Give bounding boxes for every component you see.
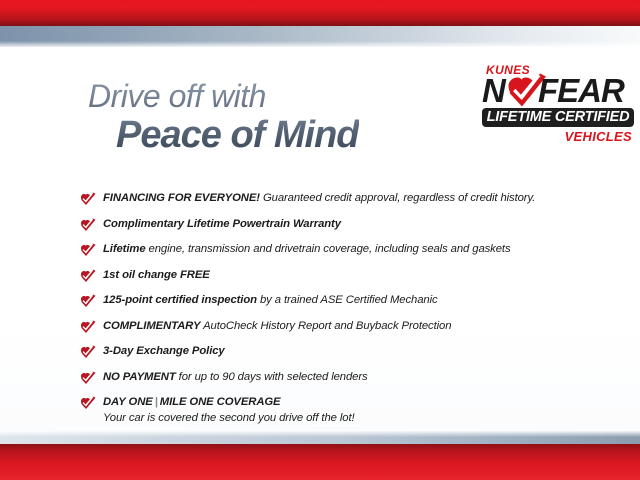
list-item-bold: 1st oil change FREE bbox=[103, 269, 210, 281]
list-item: Complimentary Lifetime Powertrain Warran… bbox=[79, 217, 579, 233]
bottom-silver-bar bbox=[0, 431, 640, 444]
heart-check-bullet-icon bbox=[79, 269, 96, 284]
list-item: FINANCING FOR EVERYONE! Guaranteed credi… bbox=[79, 191, 579, 207]
benefits-list: FINANCING FOR EVERYONE! Guaranteed credi… bbox=[79, 191, 579, 435]
heart-check-bullet-icon bbox=[79, 345, 96, 360]
list-item-text: Complimentary Lifetime Powertrain Warran… bbox=[103, 217, 341, 231]
list-item-text: FINANCING FOR EVERYONE! Guaranteed credi… bbox=[103, 191, 535, 205]
headline-line-1: Drive off with bbox=[88, 80, 359, 112]
list-item: NO PAYMENT for up to 90 days with select… bbox=[79, 370, 579, 386]
list-item-rest: by a trained ASE Certified Mechanic bbox=[257, 294, 438, 306]
list-item-text: 3-Day Exchange Policy bbox=[103, 344, 225, 358]
top-red-bar bbox=[0, 0, 640, 26]
list-item-bold: DAY ONE bbox=[103, 396, 153, 408]
logo-vehicles-text: VEHICLES bbox=[565, 129, 632, 144]
top-silver-bar bbox=[0, 26, 640, 47]
heart-check-bullet-icon bbox=[79, 320, 96, 335]
logo-letter-n: N bbox=[482, 74, 505, 107]
list-item-text: 1st oil change FREE bbox=[103, 268, 210, 282]
list-item-rest: for up to 90 days with selected lenders bbox=[176, 371, 368, 383]
list-item: Lifetime engine, transmission and drivet… bbox=[79, 242, 579, 258]
list-item-text: COMPLIMENTARY AutoCheck History Report a… bbox=[103, 319, 451, 333]
list-item-bold: Complimentary Lifetime Powertrain Warran… bbox=[103, 218, 341, 230]
advertisement-banner: Drive off with Peace of Mind KUNES N FEA… bbox=[0, 0, 640, 480]
heart-check-bullet-icon bbox=[79, 371, 96, 386]
list-item-bold: FINANCING FOR EVERYONE! bbox=[103, 192, 260, 204]
list-item-bold: NO PAYMENT bbox=[103, 371, 176, 383]
list-item-text: DAY ONE|MILE ONE COVERAGEYour car is cov… bbox=[103, 395, 355, 425]
list-item-bold-2: MILE ONE COVERAGE bbox=[160, 396, 281, 408]
logo-wordmark: N FEAR bbox=[482, 74, 634, 107]
list-item-text: 125-point certified inspection by a trai… bbox=[103, 293, 438, 307]
list-item-bold: 3-Day Exchange Policy bbox=[103, 345, 225, 357]
headline-line-2: Peace of Mind bbox=[116, 116, 359, 154]
heart-check-bullet-icon bbox=[79, 294, 96, 309]
logo-lifetime-certified-bar: LIFETIME CERTIFIED bbox=[482, 108, 634, 127]
content-card: Drive off with Peace of Mind KUNES N FEA… bbox=[0, 47, 640, 431]
page-title: Drive off with Peace of Mind bbox=[88, 80, 359, 154]
list-item: 125-point certified inspection by a trai… bbox=[79, 293, 579, 309]
list-item-bold: Lifetime bbox=[103, 243, 146, 255]
heart-check-bullet-icon bbox=[79, 243, 96, 258]
list-item-text: Lifetime engine, transmission and drivet… bbox=[103, 242, 511, 256]
list-item: DAY ONE|MILE ONE COVERAGEYour car is cov… bbox=[79, 395, 579, 425]
logo-word-fear: FEAR bbox=[538, 74, 624, 107]
heart-check-bullet-icon bbox=[79, 218, 96, 233]
heart-check-bullet-icon bbox=[79, 192, 96, 207]
list-item: COMPLIMENTARY AutoCheck History Report a… bbox=[79, 319, 579, 335]
list-item-subtext: Your car is covered the second you drive… bbox=[103, 411, 355, 425]
list-item-rest: engine, transmission and drivetrain cove… bbox=[146, 243, 511, 255]
list-item-rest: AutoCheck History Report and Buyback Pro… bbox=[200, 320, 451, 332]
list-item: 3-Day Exchange Policy bbox=[79, 344, 579, 360]
bottom-red-bar bbox=[0, 444, 640, 480]
list-item-rest: Guaranteed credit approval, regardless o… bbox=[260, 192, 535, 204]
heart-check-bullet-icon bbox=[79, 396, 96, 411]
list-item-bold: 125-point certified inspection bbox=[103, 294, 257, 306]
list-item-bold: COMPLIMENTARY bbox=[103, 320, 200, 332]
list-item: 1st oil change FREE bbox=[79, 268, 579, 284]
list-item-separator: | bbox=[153, 396, 160, 408]
list-item-text: NO PAYMENT for up to 90 days with select… bbox=[103, 370, 368, 384]
